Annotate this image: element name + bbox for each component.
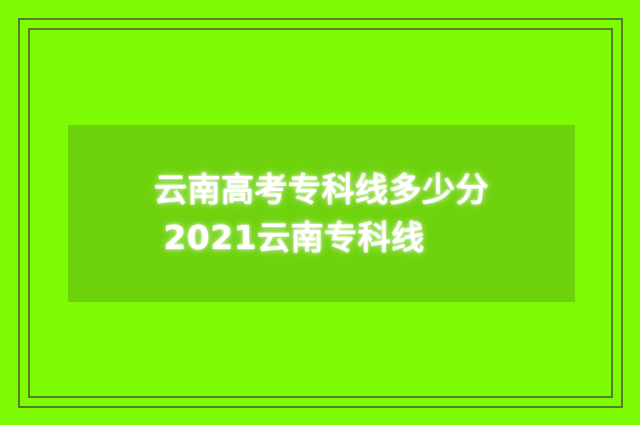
image-canvas: 云南高考专科线多少分 2021云南专科线 — [0, 0, 640, 425]
title-panel: 云南高考专科线多少分 2021云南专科线 — [68, 125, 575, 302]
title-text-block: 云南高考专科线多少分 2021云南专科线 — [68, 125, 575, 302]
title-line-secondary: 2021云南专科线 — [163, 214, 424, 262]
title-line-primary: 云南高考专科线多少分 — [154, 166, 489, 214]
